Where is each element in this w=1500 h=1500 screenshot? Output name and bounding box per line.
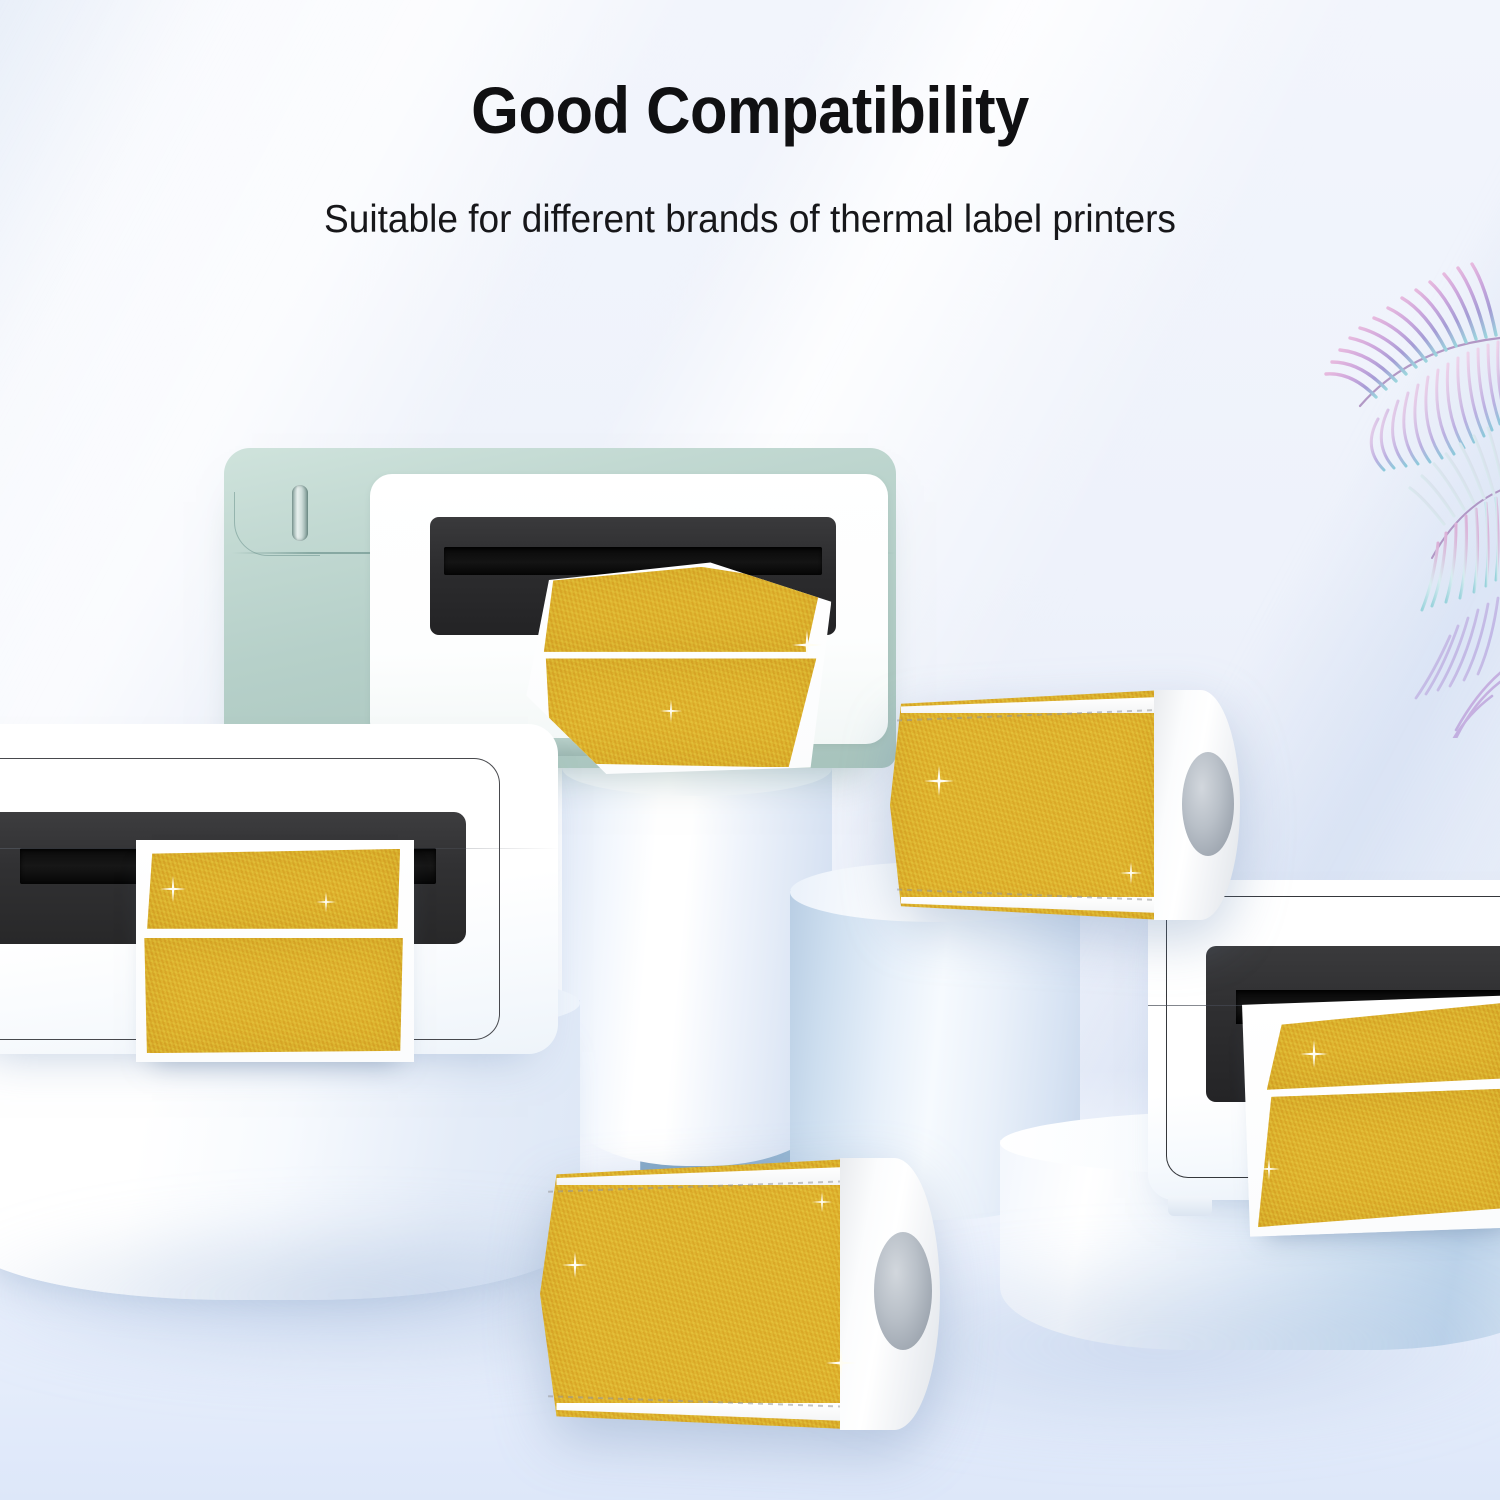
page-title: Good Compatibility: [53, 72, 1448, 148]
printer-green-output-slot: [444, 547, 822, 575]
label-roll-bottom-center: [540, 1158, 940, 1430]
label-roll-core-hole: [874, 1232, 932, 1350]
label-roll-core-hole: [1182, 752, 1234, 856]
label-segment-bottom: [1253, 1088, 1500, 1227]
label-roll-glitter-surface: [540, 1158, 870, 1430]
label-sheet-white-right: [1242, 995, 1500, 1236]
label-segment-bottom: [144, 938, 403, 1053]
page-subtitle: Suitable for different brands of thermal…: [38, 198, 1463, 242]
printer-green-indicator-slot: [292, 485, 308, 541]
palm-fronds-decor-icon: [1260, 238, 1500, 738]
printer-white-right-foot: [1168, 1196, 1212, 1216]
label-segment-top: [147, 849, 400, 929]
label-sheet-white-left: [136, 840, 414, 1062]
label-roll-glitter-surface: [890, 690, 1164, 920]
label-roll-upper-right: [890, 690, 1240, 920]
product-scene: Good Compatibility Suitable for differen…: [0, 0, 1500, 1500]
